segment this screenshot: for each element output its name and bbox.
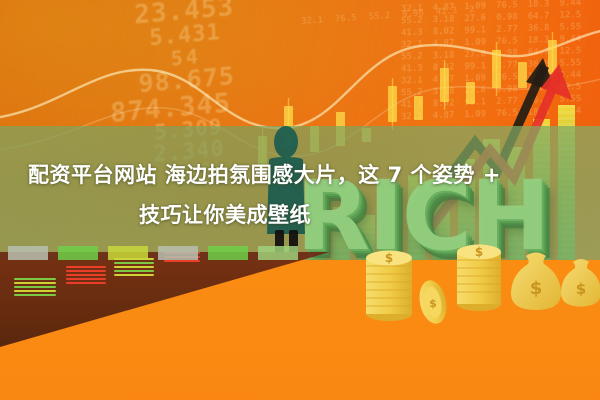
page-title-line1: 配资平台网站 海边拍氛围感大片，这 7 个姿势 +	[16, 155, 584, 195]
money-bag-icon: $	[561, 259, 600, 307]
money-bag-icon: $	[511, 253, 561, 311]
coin-stack: $	[457, 245, 501, 312]
coin-single: $	[416, 278, 451, 326]
ticker-block	[14, 278, 56, 298]
banner-image: 23.453 5.431 54 98.675 874.345 5.309 2.3…	[0, 0, 600, 400]
page-title-line2: 技巧让你美成壁纸	[16, 195, 584, 235]
ticker-block	[66, 266, 106, 286]
svg-text:$: $	[429, 297, 437, 310]
svg-text:$: $	[385, 251, 393, 265]
svg-text:$: $	[530, 278, 543, 299]
coin-stack: $	[366, 251, 412, 322]
svg-text:$: $	[576, 280, 586, 298]
page-title: 配资平台网站 海边拍氛围感大片，这 7 个姿势 + 技巧让你美成壁纸	[0, 155, 600, 235]
svg-text:$: $	[475, 245, 483, 259]
money-group: $ $ $ $ $	[360, 236, 600, 346]
ticker-board-top	[0, 244, 330, 266]
